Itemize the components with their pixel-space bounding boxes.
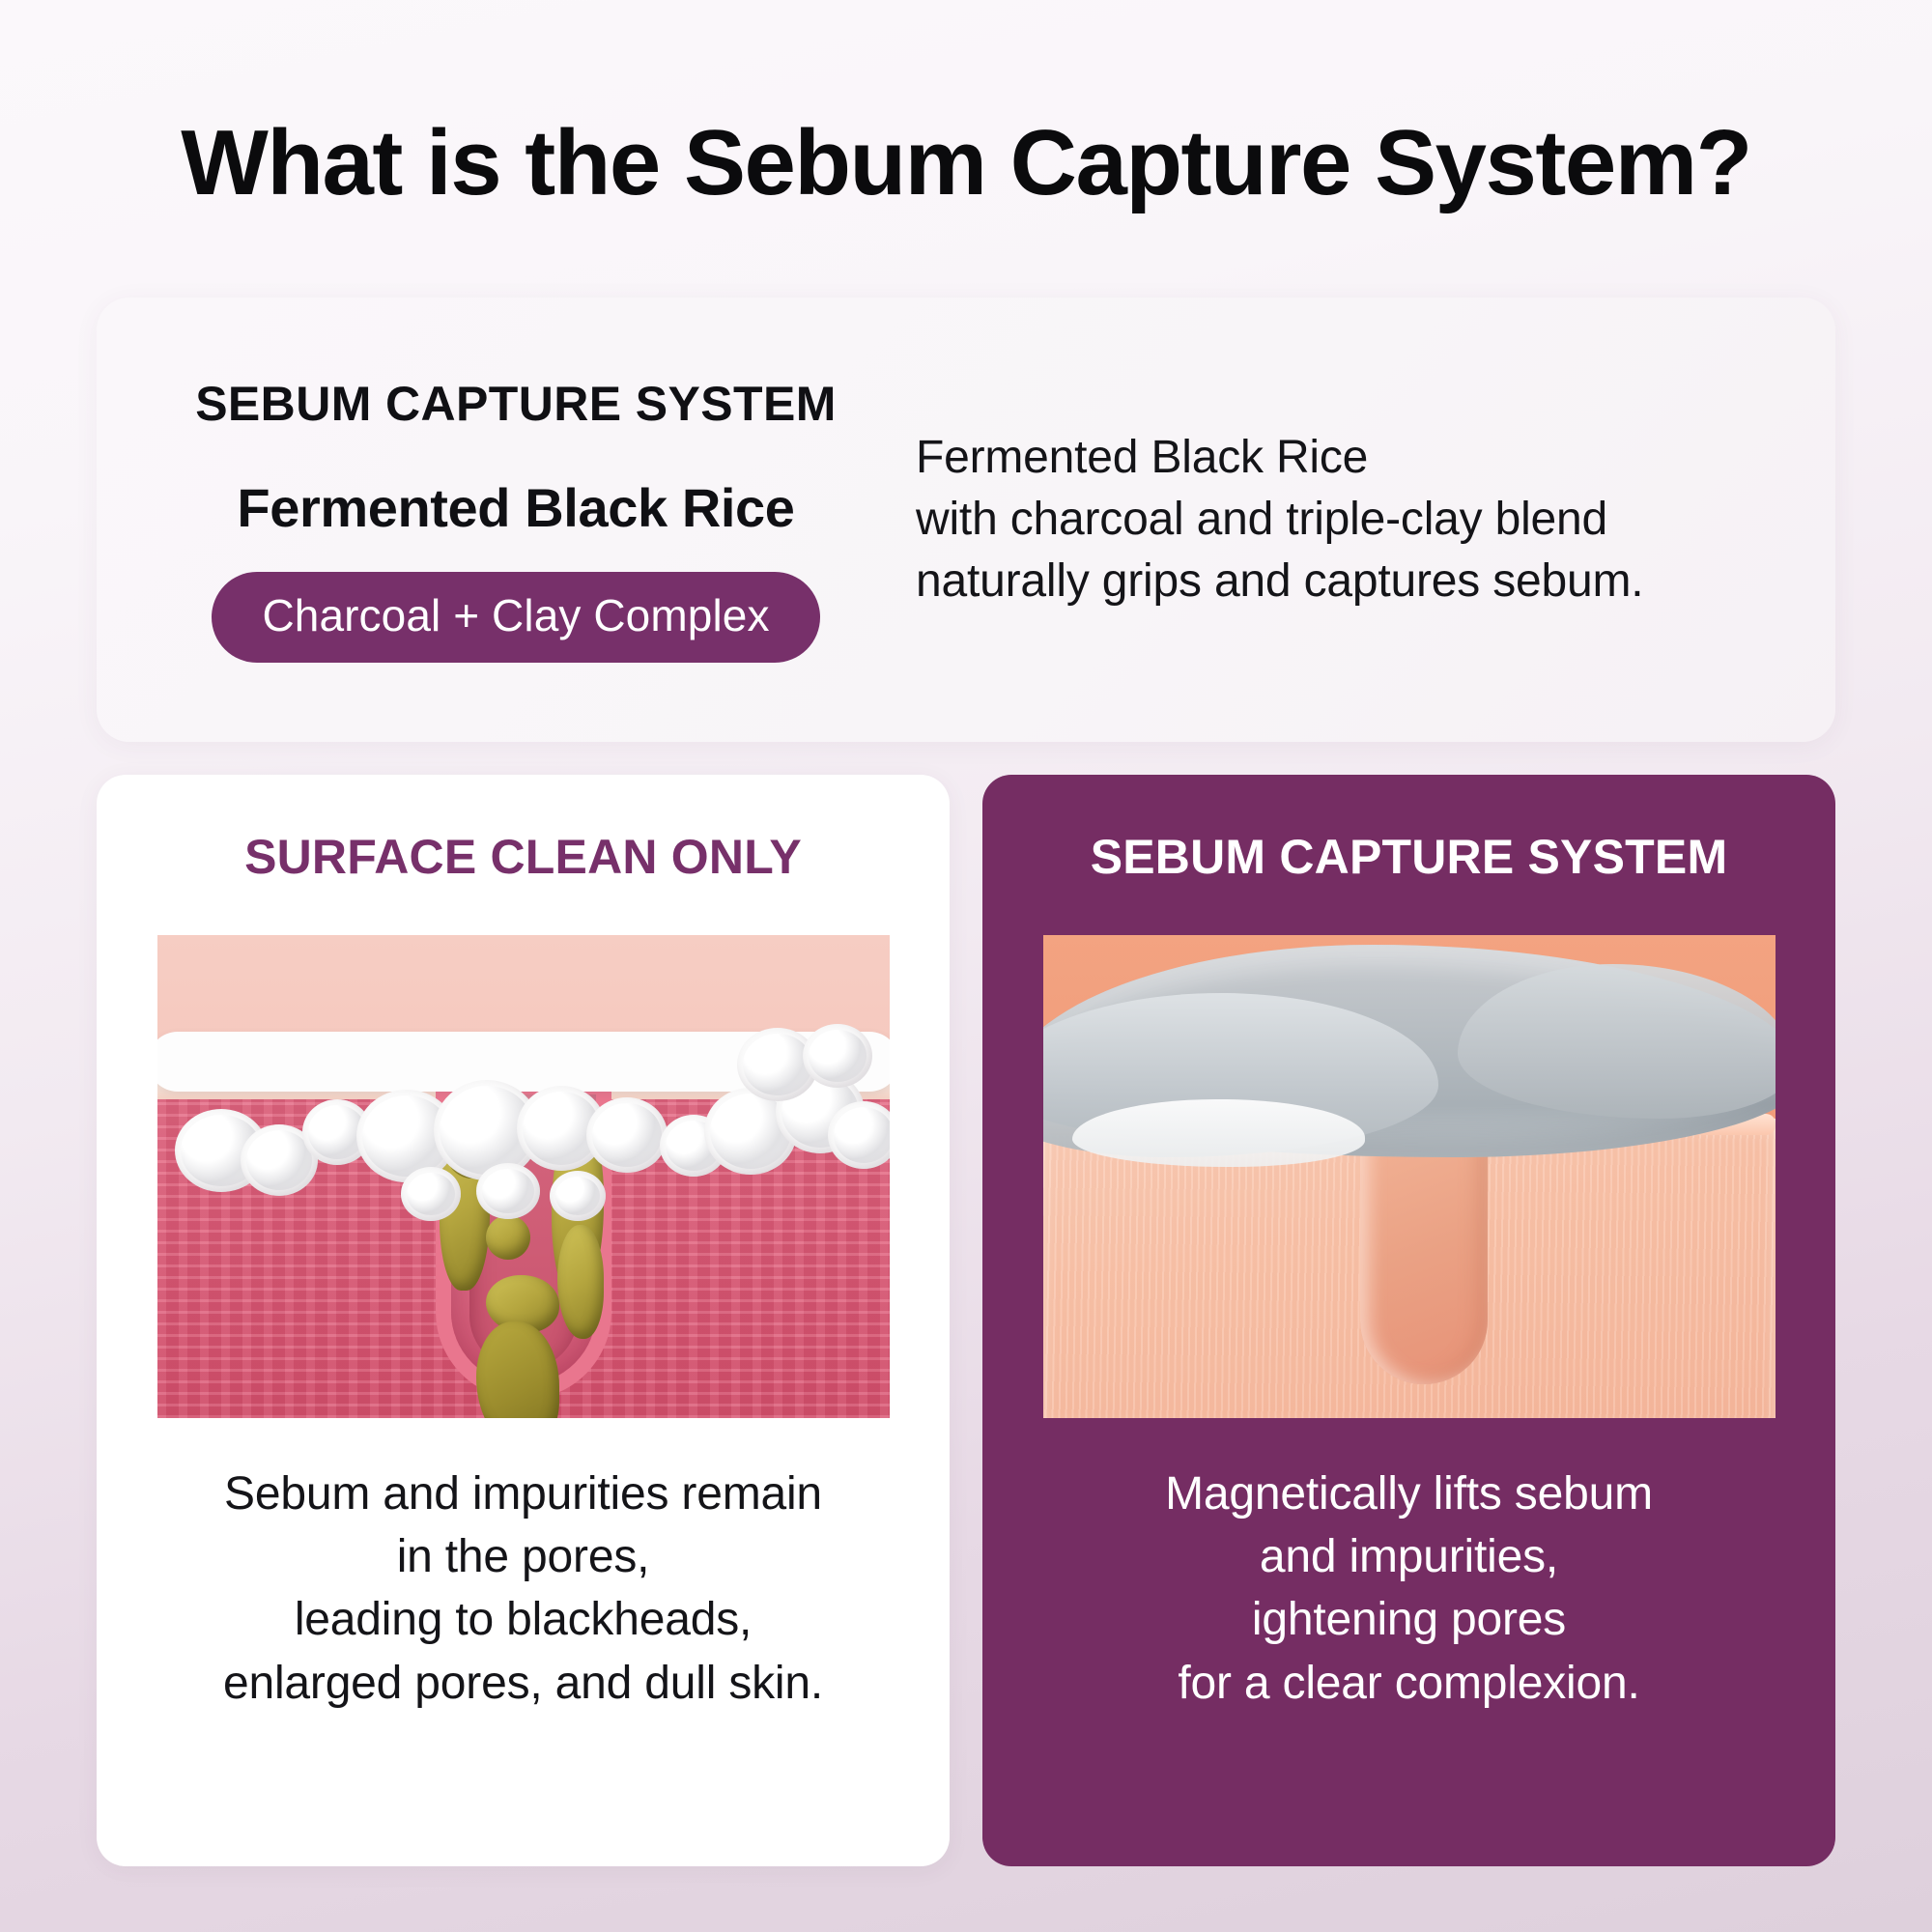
sebum-plug <box>486 1215 530 1260</box>
clogged-pore-illustration <box>157 935 890 1418</box>
foam-bubble <box>401 1167 461 1221</box>
caption-line: for a clear complexion. <box>1178 1658 1639 1709</box>
hero-description-line-1: Fermented Black Rice <box>916 432 1368 483</box>
comparison-section: SURFACE CLEAN ONLY <box>97 775 1835 1866</box>
caption-line: in the pores, <box>397 1531 650 1582</box>
hero-description-line-2: with charcoal and triple-clay blend <box>916 494 1607 545</box>
hero-kicker: SEBUM CAPTURE SYSTEM <box>139 376 893 432</box>
hero-description: Fermented Black Rice with charcoal and t… <box>902 427 1789 611</box>
caption-line: ightening pores <box>1252 1594 1566 1645</box>
caption-line: Sebum and impurities remain <box>224 1468 822 1520</box>
charcoal-clay-badge: Charcoal + Clay Complex <box>212 572 819 663</box>
infographic-page: What is the Sebum Capture System? SEBUM … <box>0 0 1932 1932</box>
panel-heading-surface-clean: SURFACE CLEAN ONLY <box>244 829 802 885</box>
foam-bubble <box>550 1171 606 1221</box>
clay-mask-illustration <box>1043 935 1776 1418</box>
empty-pore-cavity <box>1360 1123 1488 1384</box>
hero-ingredient-name: Fermented Black Rice <box>139 476 893 539</box>
panel-surface-clean-only: SURFACE CLEAN ONLY <box>97 775 950 1866</box>
ingredient-hero-card: SEBUM CAPTURE SYSTEM Fermented Black Ric… <box>97 298 1835 742</box>
sebum-plug <box>557 1225 604 1339</box>
caption-surface-clean: Sebum and impurities remain in the pores… <box>223 1463 823 1715</box>
caption-line: and impurities, <box>1260 1531 1558 1582</box>
caption-line: Magnetically lifts sebum <box>1165 1468 1653 1520</box>
page-title: What is the Sebum Capture System? <box>97 0 1835 213</box>
hero-description-line-3: naturally grips and captures sebum. <box>916 555 1643 607</box>
foam-bubble <box>586 1097 668 1173</box>
caption-line: leading to blackheads, <box>295 1594 752 1645</box>
panel-sebum-capture-system: SEBUM CAPTURE SYSTEM Magnetically lifts … <box>982 775 1835 1866</box>
caption-line: enlarged pores, and dull skin. <box>223 1658 823 1709</box>
panel-heading-sebum-capture: SEBUM CAPTURE SYSTEM <box>1091 829 1728 885</box>
caption-sebum-capture: Magnetically lifts sebum and impurities,… <box>1165 1463 1653 1715</box>
foam-bubble <box>476 1163 540 1219</box>
hero-left-column: SEBUM CAPTURE SYSTEM Fermented Black Ric… <box>139 376 902 663</box>
foam-bubble <box>803 1024 872 1088</box>
